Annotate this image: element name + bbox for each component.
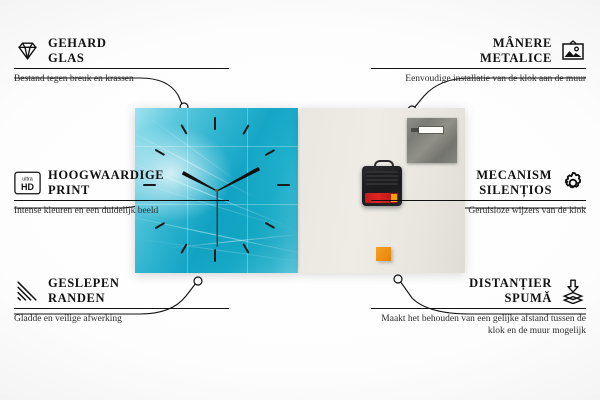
feature-title: DISTANȚIERSPUMĂ (469, 276, 552, 305)
gear-icon (559, 169, 586, 196)
feature-ground-edges: GESLEPENRANDEN Gladde en veilige afwerki… (14, 276, 229, 325)
feature-metal-handles: MÂNEREMETALICE Eenvoudige installatie va… (371, 36, 586, 85)
feature-tempered-glass: GEHARDGLAS Bestand tegen breuk en krasse… (14, 36, 229, 85)
divider (14, 200, 229, 201)
diamond-icon (14, 37, 41, 64)
divider (14, 68, 229, 69)
press-down-icon (559, 277, 586, 304)
feature-desc: Bestand tegen breuk en krassen (14, 73, 229, 85)
feature-title: MECANISMSILENȚIOS (476, 168, 552, 197)
divider (371, 200, 586, 201)
infographic-canvas: GEHARDGLAS Bestand tegen breuk en krasse… (0, 0, 600, 400)
feature-desc: Geruisloze wijzers van de klok (371, 205, 586, 217)
ultra-hd-icon: ultra HD (14, 169, 41, 196)
feature-desc: Gladde en veilige afwerking (14, 313, 229, 325)
feature-title: MÂNEREMETALICE (480, 36, 552, 65)
metal-hanger-plate (407, 118, 457, 163)
feature-title: GEHARDGLAS (48, 36, 106, 65)
foam-spacer (376, 247, 391, 261)
svg-text:HD: HD (21, 182, 34, 192)
bevelled-edge-icon (14, 277, 41, 304)
feature-desc: Intense kleuren en een duidelijk beeld (14, 205, 229, 217)
feature-silent-mechanism: MECANISMSILENȚIOS Geruisloze wijzers van… (371, 168, 586, 217)
divider (14, 308, 229, 309)
divider (371, 68, 586, 69)
feature-high-quality-print: ultra HD HOOGWAARDIGEPRINT Intense kleur… (14, 168, 229, 217)
picture-hanger-icon (559, 37, 586, 64)
feature-desc: Maakt het behouden van een gelijke afsta… (371, 313, 586, 337)
feature-title: HOOGWAARDIGEPRINT (48, 168, 164, 197)
keyhole-slot (418, 126, 444, 134)
feature-title: GESLEPENRANDEN (48, 276, 120, 305)
feature-foam-spacer: DISTANȚIERSPUMĂ Maakt het behouden van e… (371, 276, 586, 337)
divider (371, 308, 586, 309)
feature-desc: Eenvoudige installatie van de klok aan d… (371, 73, 586, 85)
